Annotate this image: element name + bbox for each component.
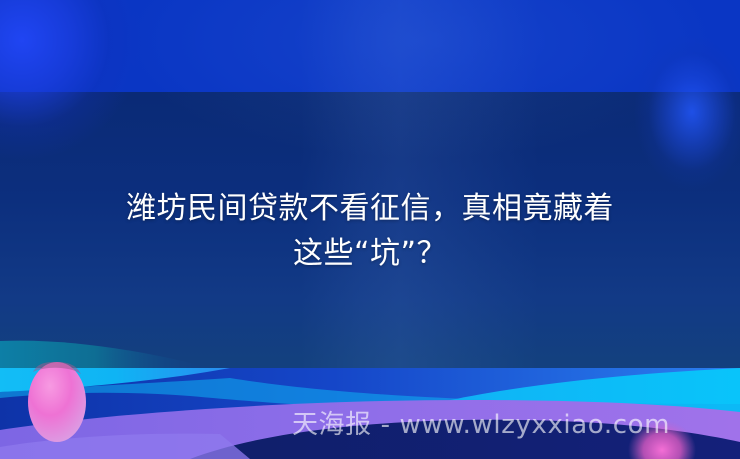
egg-shadow-cap bbox=[33, 362, 81, 374]
page-title-line-2: 这些“坑”？ bbox=[0, 231, 740, 276]
page-title: 潍坊民间贷款不看征信，真相竟藏着 这些“坑”？ bbox=[0, 186, 740, 276]
page-title-line-1: 潍坊民间贷款不看征信，真相竟藏着 bbox=[0, 186, 740, 231]
watermark-text: 天海报 - www.wlzyxxiao.com bbox=[292, 408, 670, 442]
poster-canvas: 潍坊民间贷款不看征信，真相竟藏着 这些“坑”？ 天海报 - www.wlzyxx… bbox=[0, 0, 740, 459]
cyan-wave-left bbox=[0, 368, 230, 392]
watermark: 天海报 - www.wlzyxxiao.com bbox=[0, 408, 740, 442]
teal-wave bbox=[0, 341, 210, 368]
